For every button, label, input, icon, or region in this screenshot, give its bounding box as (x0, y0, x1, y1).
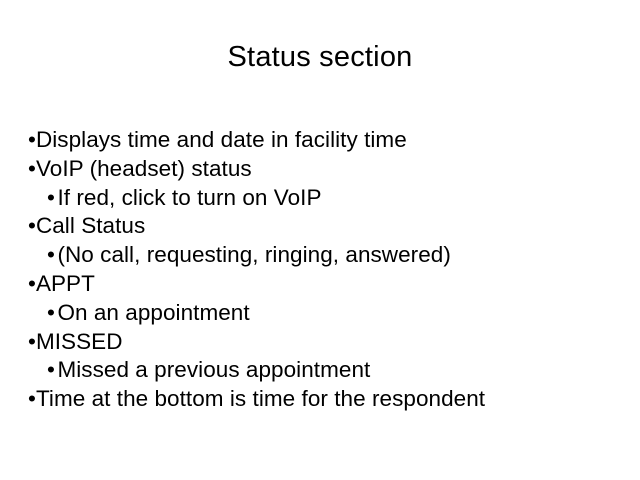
list-item-label: Displays time and date in facility time (36, 127, 407, 152)
bullet-point-icon: • (47, 356, 55, 385)
list-item-label: Call Status (36, 213, 145, 238)
bullet-point-icon: • (47, 299, 55, 328)
list-item-label: Missed a previous appointment (57, 357, 370, 382)
list-item: •On an appointment (28, 299, 618, 328)
bullet-point-icon: • (28, 155, 36, 184)
bullet-point-icon: • (28, 126, 36, 155)
list-item-label: VoIP (headset) status (36, 156, 252, 181)
bullet-point-icon: • (47, 241, 55, 270)
list-item-label: MISSED (36, 329, 123, 354)
list-item: •Displays time and date in facility time (28, 126, 618, 155)
list-item: •Missed a previous appointment (28, 356, 618, 385)
list-item-label: On an appointment (57, 300, 249, 325)
bullet-point-icon: • (28, 270, 36, 299)
list-item: •(No call, requesting, ringing, answered… (28, 241, 618, 270)
list-item-label: APPT (36, 271, 95, 296)
list-item: •VoIP (headset) status (28, 155, 618, 184)
list-item-label: If red, click to turn on VoIP (57, 185, 321, 210)
bullet-point-icon: • (28, 212, 36, 241)
list-item: •APPT (28, 270, 618, 299)
list-item-label: (No call, requesting, ringing, answered) (57, 242, 450, 267)
list-item: •If red, click to turn on VoIP (28, 184, 618, 213)
list-item: •Call Status (28, 212, 618, 241)
bullet-point-icon: • (28, 328, 36, 357)
list-item-label: Time at the bottom is time for the respo… (36, 386, 485, 411)
bullet-point-icon: • (28, 385, 36, 414)
list-item: •MISSED (28, 328, 618, 357)
page-title: Status section (0, 40, 640, 74)
bullet-list: •Displays time and date in facility time… (28, 126, 618, 414)
list-item: •Time at the bottom is time for the resp… (28, 385, 618, 414)
slide-canvas: Status section •Displays time and date i… (0, 0, 640, 480)
bullet-point-icon: • (47, 184, 55, 213)
